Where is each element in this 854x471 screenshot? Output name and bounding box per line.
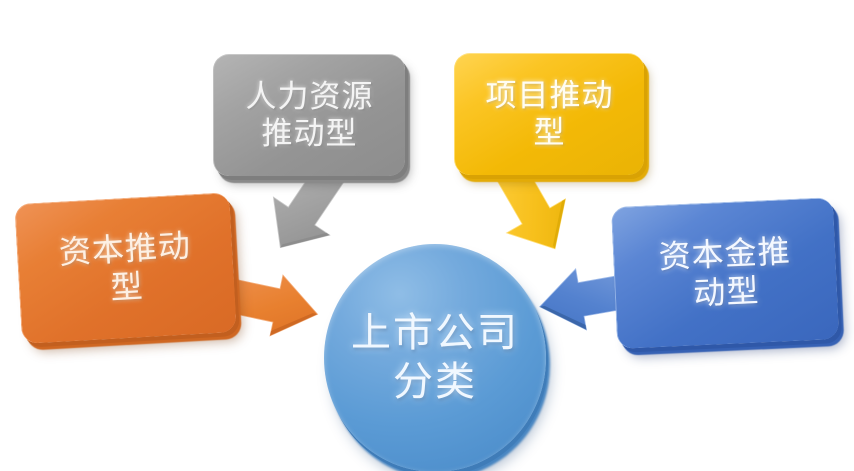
- node-capital-fund-driven[interactable]: 资本金推 动型: [611, 197, 839, 349]
- node-capital-driven[interactable]: 资本推动 型: [14, 192, 236, 344]
- node-hr-label: 人力资源 推动型: [236, 79, 384, 152]
- hub-listed-company-classification[interactable]: 上市公司 分类: [324, 244, 546, 471]
- hub-label: 上市公司 分类: [351, 309, 519, 407]
- node-capital-label: 资本推动 型: [48, 227, 204, 311]
- node-hr-driven[interactable]: 人力资源 推动型: [213, 54, 405, 176]
- diagram-canvas: 人力资源 推动型 项目推动 型 资本推动 型 资本金推 动型 上市公司 分类: [0, 0, 854, 471]
- node-project-driven[interactable]: 项目推动 型: [454, 53, 644, 175]
- node-project-label: 项目推动 型: [476, 78, 624, 151]
- node-fund-label: 资本金推 动型: [648, 232, 803, 314]
